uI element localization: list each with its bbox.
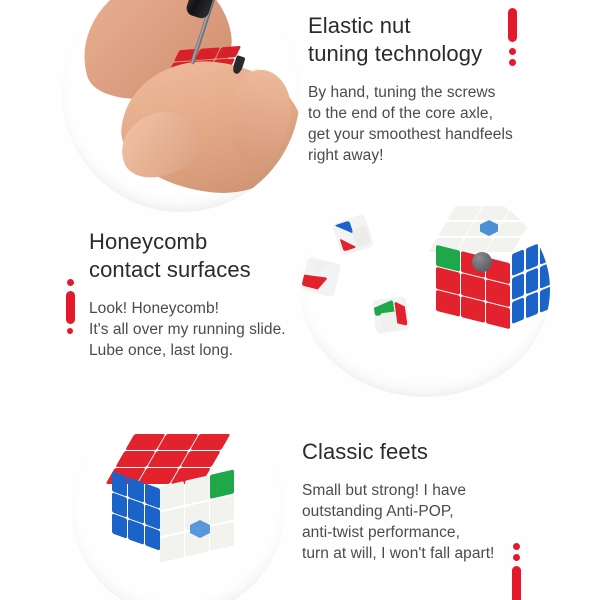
marker-bar: [66, 291, 75, 324]
exclamation-marker-icon-1: [506, 8, 518, 66]
section-heading-elastic-nut: Elastic nut tuning technology: [308, 12, 558, 68]
corner-piece: [332, 214, 375, 257]
product-image-honeycomb-pieces: [300, 182, 550, 397]
marker-bar: [508, 8, 517, 42]
section-heading-classic-feets: Classic feets: [302, 438, 552, 466]
section-honeycomb: Honeycomb contact surfaces Look! Honeyco…: [89, 228, 314, 361]
exclamation-marker-icon-3: [510, 543, 522, 600]
marker-dot: [509, 48, 516, 55]
section-body-elastic-nut: By hand, tuning the screws to the end of…: [308, 82, 558, 166]
photo-assembled-cube: [72, 404, 284, 600]
corner-piece: [372, 296, 410, 334]
marker-dot: [67, 328, 73, 334]
cube-with-missing-corner: [428, 206, 550, 336]
marker-dot: [513, 543, 520, 550]
section-heading-honeycomb: Honeycomb contact surfaces: [89, 228, 314, 284]
marker-bar: [512, 566, 521, 600]
cube-front-face: [160, 469, 234, 562]
exclamation-marker-icon-2: [64, 279, 76, 334]
infographic-page: Elastic nut tuning technology By hand, t…: [0, 0, 600, 600]
marker-dot: [509, 59, 516, 66]
photo-cube-disassembled: [300, 182, 550, 397]
cube-right-face: [512, 238, 550, 324]
cube-assembled: [104, 434, 242, 576]
cube-core-screw: [472, 252, 492, 272]
section-elastic-nut: Elastic nut tuning technology By hand, t…: [308, 12, 558, 166]
photo-hand-tuning-cube: [62, 0, 300, 212]
product-image-hand-screwdriver: [62, 0, 300, 212]
product-image-classic-feets: [72, 404, 284, 600]
marker-dot: [67, 279, 74, 286]
section-body-honeycomb: Look! Honeycomb! It's all over my runnin…: [89, 298, 314, 361]
marker-dot: [513, 554, 520, 561]
